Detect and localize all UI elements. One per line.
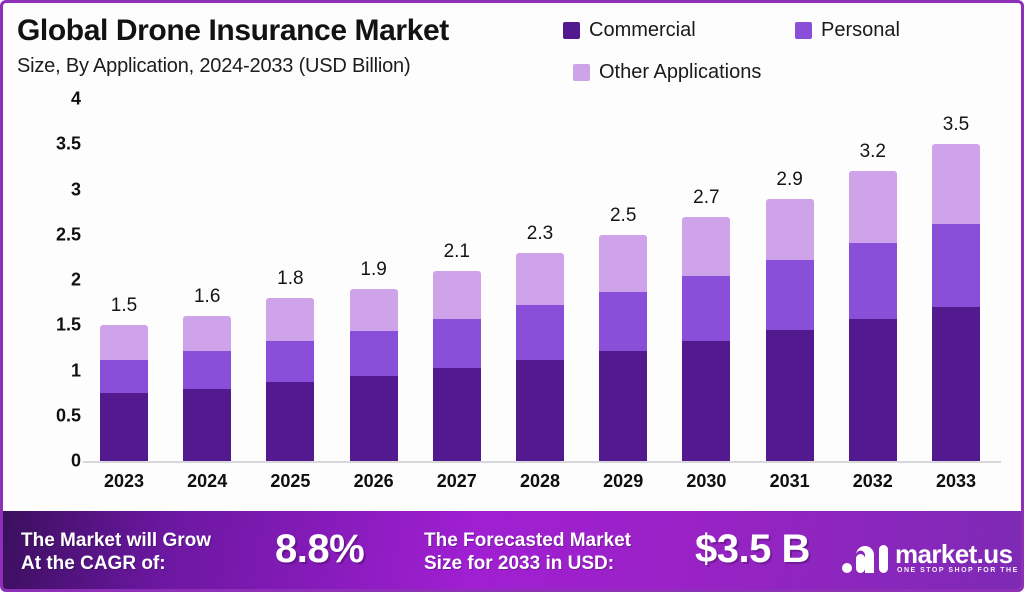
legend-item-other-applications[interactable]: Other Applications: [573, 61, 761, 84]
bar-segment[interactable]: [766, 260, 814, 330]
bar-value-label: 1.6: [167, 286, 247, 308]
bar-series-container: 1.51.61.81.92.12.32.52.72.93.23.5: [83, 99, 1001, 461]
bar-segment[interactable]: [516, 253, 564, 305]
legend-label: Other Applications: [599, 61, 761, 84]
bar-segment[interactable]: [433, 271, 481, 319]
x-axis-tick: 2026: [334, 471, 414, 492]
bar-segment[interactable]: [599, 235, 647, 292]
bar-value-label: 2.9: [750, 169, 830, 191]
bar-value-label: 2.1: [417, 241, 497, 263]
bar-value-label: 3.5: [916, 114, 996, 136]
bar-group[interactable]: 1.6: [183, 99, 231, 461]
bar-segment[interactable]: [433, 368, 481, 461]
bar-group[interactable]: 1.9: [350, 99, 398, 461]
y-axis-tick: 1.5: [25, 315, 81, 336]
bar-segment[interactable]: [766, 330, 814, 461]
bar-group[interactable]: 3.2: [849, 99, 897, 461]
bar-segment[interactable]: [183, 351, 231, 389]
bar-segment[interactable]: [266, 341, 314, 383]
bar-group[interactable]: 2.1: [433, 99, 481, 461]
bar-segment[interactable]: [183, 316, 231, 350]
page-subtitle: Size, By Application, 2024-2033 (USD Bil…: [17, 55, 410, 78]
bar-group[interactable]: 1.8: [266, 99, 314, 461]
bar-segment[interactable]: [599, 351, 647, 461]
bar-value-label: 2.5: [583, 205, 663, 227]
bar-group[interactable]: 2.7: [682, 99, 730, 461]
y-axis-tick: 1: [25, 360, 81, 381]
x-axis-tick: 2023: [84, 471, 164, 492]
bar-segment[interactable]: [100, 325, 148, 359]
x-axis-tick: 2032: [833, 471, 913, 492]
stacked-bar[interactable]: [516, 253, 564, 461]
bar-segment[interactable]: [849, 243, 897, 319]
bar-segment[interactable]: [849, 171, 897, 242]
bar-segment[interactable]: [433, 319, 481, 368]
forecast-size-caption: The Forecasted MarketSize for 2033 in US…: [424, 529, 631, 575]
y-axis-tick: 0.5: [25, 405, 81, 426]
y-axis-tick: 2.5: [25, 224, 81, 245]
stacked-bar[interactable]: [932, 144, 980, 461]
stacked-bar[interactable]: [183, 316, 231, 461]
bar-segment[interactable]: [350, 376, 398, 461]
chart-legend: Commercial Personal Other Applications: [561, 13, 1021, 93]
bar-value-label: 2.7: [666, 187, 746, 209]
market-us-bars-icon: [841, 541, 889, 575]
cagr-value: 8.8%: [275, 527, 364, 572]
x-axis-tick: 2027: [417, 471, 497, 492]
y-axis-tick: 2: [25, 270, 81, 291]
y-axis-tick: 0: [25, 451, 81, 472]
bar-segment[interactable]: [100, 393, 148, 461]
bar-segment[interactable]: [766, 199, 814, 261]
y-axis: 00.511.522.533.54: [25, 99, 81, 469]
legend-item-commercial[interactable]: Commercial: [563, 19, 696, 42]
y-axis-tick: 3.5: [25, 134, 81, 155]
stacked-bar[interactable]: [100, 325, 148, 461]
legend-label: Personal: [821, 19, 900, 42]
y-axis-tick: 3: [25, 179, 81, 200]
page-title: Global Drone Insurance Market: [17, 14, 449, 48]
legend-label: Commercial: [589, 19, 696, 42]
bar-segment[interactable]: [266, 298, 314, 341]
cagr-caption: The Market will GrowAt the CAGR of:: [21, 529, 211, 575]
brand-logo[interactable]: market.us ONE STOP SHOP FOR THE REPORTS: [841, 537, 1017, 583]
bar-segment[interactable]: [350, 289, 398, 331]
logo-tagline: ONE STOP SHOP FOR THE REPORTS: [897, 567, 1024, 574]
legend-swatch-icon: [795, 22, 812, 39]
forecast-size-value: $3.5 B: [695, 527, 810, 572]
stacked-bar[interactable]: [599, 235, 647, 461]
bar-segment[interactable]: [599, 292, 647, 351]
x-axis-tick: 2031: [750, 471, 830, 492]
chart-infographic: Global Drone Insurance Market Size, By A…: [0, 0, 1024, 592]
bar-segment[interactable]: [516, 360, 564, 461]
bar-value-label: 2.3: [500, 223, 580, 245]
bar-group[interactable]: 2.5: [599, 99, 647, 461]
stacked-bar[interactable]: [433, 271, 481, 461]
x-axis-tick: 2033: [916, 471, 996, 492]
bar-group[interactable]: 3.5: [932, 99, 980, 461]
x-axis-tick: 2029: [583, 471, 663, 492]
bar-segment[interactable]: [682, 341, 730, 461]
x-axis-tick: 2024: [167, 471, 247, 492]
x-axis-tick: 2030: [666, 471, 746, 492]
bar-segment[interactable]: [266, 382, 314, 461]
bar-segment[interactable]: [100, 360, 148, 393]
bar-value-label: 1.8: [250, 268, 330, 290]
bar-segment[interactable]: [682, 276, 730, 340]
stacked-bar[interactable]: [266, 298, 314, 461]
stacked-bar[interactable]: [766, 199, 814, 461]
x-axis: 2023202420252026202720282029203020312032…: [83, 471, 1001, 507]
bar-segment[interactable]: [932, 144, 980, 224]
y-axis-tick: 4: [25, 89, 81, 110]
stacked-bar[interactable]: [682, 217, 730, 461]
bar-segment[interactable]: [682, 217, 730, 277]
bar-segment[interactable]: [932, 224, 980, 307]
legend-swatch-icon: [563, 22, 580, 39]
bar-segment[interactable]: [350, 331, 398, 376]
bar-segment[interactable]: [183, 389, 231, 461]
bar-value-label: 1.5: [84, 295, 164, 317]
stacked-bar[interactable]: [849, 171, 897, 461]
bar-segment[interactable]: [849, 319, 897, 461]
bar-segment[interactable]: [932, 307, 980, 461]
logo-wordmark: market.us: [895, 539, 1012, 570]
bar-group[interactable]: 2.9: [766, 99, 814, 461]
chart-plot-area: 00.511.522.533.54 1.51.61.81.92.12.32.52…: [3, 99, 1024, 517]
bar-segment[interactable]: [516, 305, 564, 359]
bar-group[interactable]: 1.5: [100, 99, 148, 461]
bar-value-label: 3.2: [833, 141, 913, 163]
bar-group[interactable]: 2.3: [516, 99, 564, 461]
legend-item-personal[interactable]: Personal: [795, 19, 900, 42]
bar-value-label: 1.9: [334, 259, 414, 281]
x-axis-tick: 2028: [500, 471, 580, 492]
stacked-bar[interactable]: [350, 289, 398, 461]
x-axis-tick: 2025: [250, 471, 330, 492]
legend-swatch-icon: [573, 64, 590, 81]
x-axis-line: [83, 461, 1001, 463]
